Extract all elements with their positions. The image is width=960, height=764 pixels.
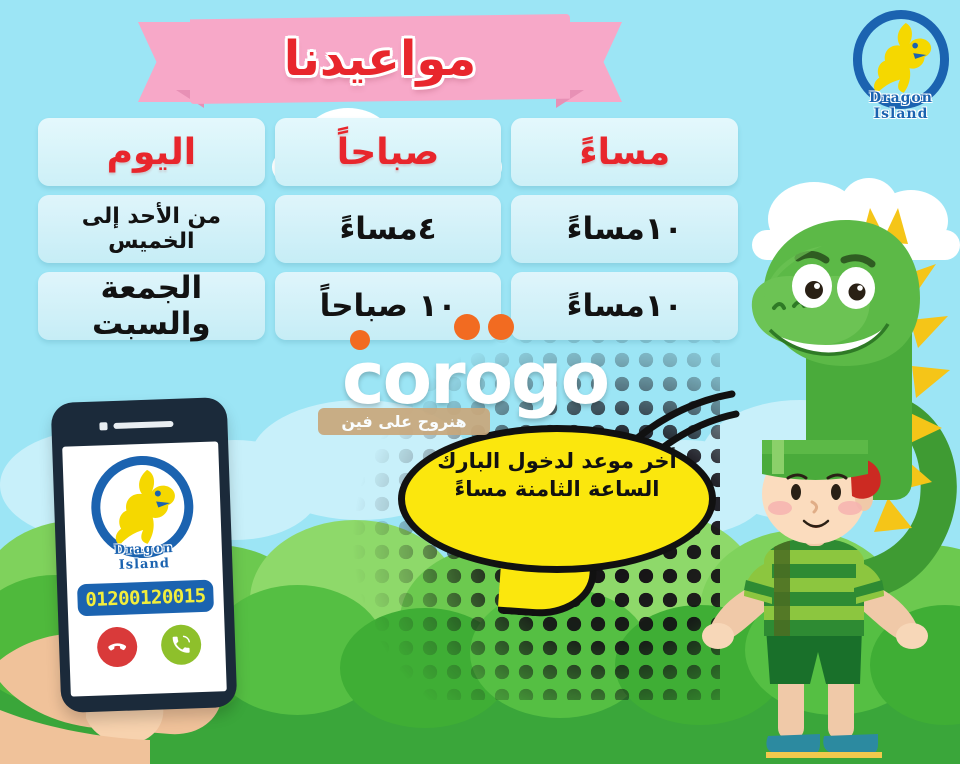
phone-speaker-icon	[113, 421, 173, 429]
banner-ribbon: مواعيدنا	[152, 14, 608, 106]
brand-logo: Dragon Island	[846, 8, 956, 120]
table-cell-day-value: من الأحد إلى الخميس	[38, 204, 265, 254]
logo-caption: Dragon Island	[86, 540, 203, 574]
phone-call-icon	[170, 633, 193, 656]
watermark: corogo هنروح على فين	[300, 336, 650, 444]
table-row: الجمعة والسبت ١٠ صباحاً ١٠مساءً	[38, 272, 738, 340]
table-cell-morning-value: ١٠ صباحاً	[320, 288, 457, 324]
table-header-evening-label: مساءً	[579, 132, 670, 173]
phone-logo: Dragon Island	[83, 452, 203, 572]
phone-number: 01200120015	[85, 585, 206, 611]
table-row: من الأحد إلى الخميس ٤مساءً ١٠مساءً	[38, 195, 738, 263]
table-header-morning-label: صباحاً	[337, 132, 439, 173]
poster-canvas: مواعيدنا اليوم صباحاً مساءً من الأحد إلى…	[0, 0, 960, 764]
table-cell-evening-value: ١٠مساءً	[567, 211, 683, 247]
logo-caption: Dragon Island	[846, 90, 956, 122]
table-header-evening: مساءً	[511, 118, 738, 186]
phone-device: Dragon Island 01200120015	[51, 397, 238, 713]
notice-line-2: الساعة الثامنة مساءً	[412, 475, 702, 503]
table-cell-evening-value: ١٠مساءً	[567, 288, 683, 324]
phone-hangup-icon	[106, 636, 129, 659]
table-cell-evening: ١٠مساءً	[511, 272, 738, 340]
call-buttons	[97, 624, 202, 668]
phone-number-badge: 01200120015	[77, 580, 214, 617]
decline-call-button[interactable]	[97, 626, 138, 667]
phone-camera-icon	[99, 422, 107, 430]
notice-speech-bubble: أخر موعد لدخول البارك الساعة الثامنة مسا…	[398, 425, 716, 595]
accept-call-button[interactable]	[160, 624, 201, 665]
page-title: مواعيدنا	[152, 14, 608, 104]
table-header-row: اليوم صباحاً مساءً	[38, 118, 738, 186]
table-cell-morning-value: ٤مساءً	[339, 211, 436, 247]
notice-line-1: أخر موعد لدخول البارك	[412, 447, 702, 475]
watermark-tagline-bar: هنروح على فين	[318, 408, 490, 435]
table-cell-day-value: الجمعة والسبت	[38, 270, 265, 342]
table-cell-day: الجمعة والسبت	[38, 272, 265, 340]
boy-character	[700, 440, 930, 764]
table-cell-day: من الأحد إلى الخميس	[38, 195, 265, 263]
bubble-tail-cover	[502, 533, 594, 559]
phone-screen: Dragon Island 01200120015	[62, 441, 227, 696]
watermark-tagline: هنروح على فين	[341, 412, 466, 431]
table-header-day: اليوم	[38, 118, 265, 186]
notice-text: أخر موعد لدخول البارك الساعة الثامنة مسا…	[412, 447, 702, 504]
dragon-head-icon	[107, 465, 180, 545]
table-cell-evening: ١٠مساءً	[511, 195, 738, 263]
table-header-day-label: اليوم	[107, 132, 197, 173]
schedule-table: اليوم صباحاً مساءً من الأحد إلى الخميس ٤…	[38, 118, 738, 349]
dragon-head-icon	[868, 18, 934, 94]
table-header-morning: صباحاً	[275, 118, 502, 186]
table-cell-morning: ٤مساءً	[275, 195, 502, 263]
